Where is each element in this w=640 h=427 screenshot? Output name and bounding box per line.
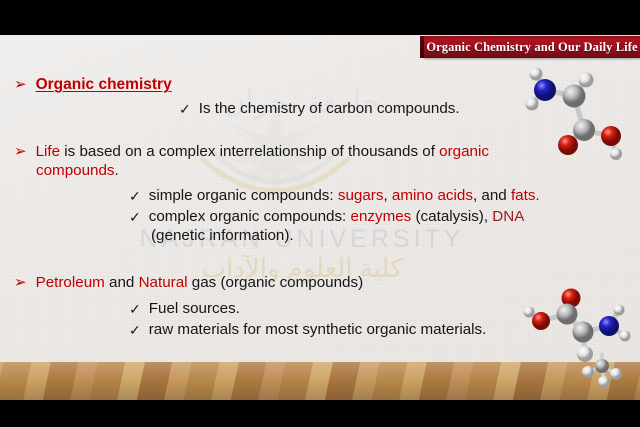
sub-bullet-simple-organic: ✓ simple organic compounds: sugars, amin… (129, 186, 540, 205)
bullet-arrow-icon: ➢ (14, 77, 27, 92)
slide-title-text: Organic Chemistry and Our Daily Life (426, 40, 637, 55)
word-life: Life (36, 143, 61, 160)
text-compounds-line: compounds. (36, 161, 119, 180)
seg-catalysis: (catalysis), (411, 208, 492, 225)
text-complex-organic-compounds: complex organic compounds: enzymes (cata… (149, 207, 525, 226)
text-life-mid: is based on a complex interrelationship … (60, 143, 439, 160)
sep-2: , and (473, 187, 511, 204)
sep-1: , (383, 187, 391, 204)
text-petroleum-statement: Petroleum and Natural gas (organic compo… (36, 273, 364, 292)
sub-bullet-complex-organic: ✓ complex organic compounds: enzymes (ca… (129, 207, 524, 226)
wooden-floor (0, 362, 640, 400)
word-enzymes: enzymes (351, 208, 412, 225)
text-compounds-wrap: compounds. (36, 161, 119, 180)
heading-organic-chemistry: Organic chemistry (36, 75, 172, 94)
word-sugars: sugars (338, 187, 384, 204)
check-icon: ✓ (129, 210, 141, 224)
word-compounds: compounds (36, 162, 115, 179)
check-icon: ✓ (129, 189, 141, 203)
presentation-slide: جامعة نجران NAJRAN UNIVERSITY كلية العلو… (0, 0, 640, 427)
word-dna: DNA (492, 208, 524, 225)
word-amino-acids: amino acids (392, 187, 473, 204)
bullet-petroleum: ➢ Petroleum and Natural gas (organic com… (14, 273, 363, 292)
text-fuel-sources: Fuel sources. (149, 299, 240, 318)
period-1: . (115, 162, 119, 179)
seg-simple-label: simple organic compounds: (149, 187, 338, 204)
text-genetic-information-wrap: (genetic information). (151, 226, 294, 245)
sub-bullet-carbon-compounds: ✓ Is the chemistry of carbon compounds. (179, 99, 460, 118)
check-icon: ✓ (179, 102, 191, 116)
seg-gas-organic-compounds: gas (organic compounds) (188, 274, 364, 291)
word-petroleum: Petroleum (36, 274, 105, 291)
check-icon: ✓ (129, 302, 141, 316)
floor-shine-overlay (0, 362, 640, 400)
seg-and: and (105, 274, 139, 291)
top-black-band (0, 0, 640, 35)
bullet-life: ➢ Life is based on a complex interrelati… (14, 142, 489, 161)
text-life-statement: Life is based on a complex interrelation… (36, 142, 489, 161)
text-raw-materials: raw materials for most synthetic organic… (149, 320, 487, 339)
word-natural: Natural (139, 274, 188, 291)
slide-body: ➢ Organic chemistry ✓ Is the chemistry o… (0, 60, 640, 360)
text-simple-organic-compounds: simple organic compounds: sugars, amino … (149, 186, 540, 205)
sub-bullet-fuel-sources: ✓ Fuel sources. (129, 299, 240, 318)
seg-complex-label: complex organic compounds: (149, 208, 351, 225)
text-carbon-compounds: Is the chemistry of carbon compounds. (199, 99, 460, 118)
slide-title-banner: Organic Chemistry and Our Daily Life (424, 36, 640, 58)
word-fats: fats. (511, 187, 540, 204)
check-icon: ✓ (129, 323, 141, 337)
bottom-black-band (0, 400, 640, 427)
sub-bullet-raw-materials: ✓ raw materials for most synthetic organ… (129, 320, 486, 339)
bullet-arrow-icon: ➢ (14, 275, 27, 290)
word-organic: organic (439, 143, 489, 160)
bullet-arrow-icon: ➢ (14, 144, 27, 159)
text-genetic-information: (genetic information). (151, 226, 294, 245)
bullet-organic-chemistry: ➢ Organic chemistry (14, 75, 172, 94)
